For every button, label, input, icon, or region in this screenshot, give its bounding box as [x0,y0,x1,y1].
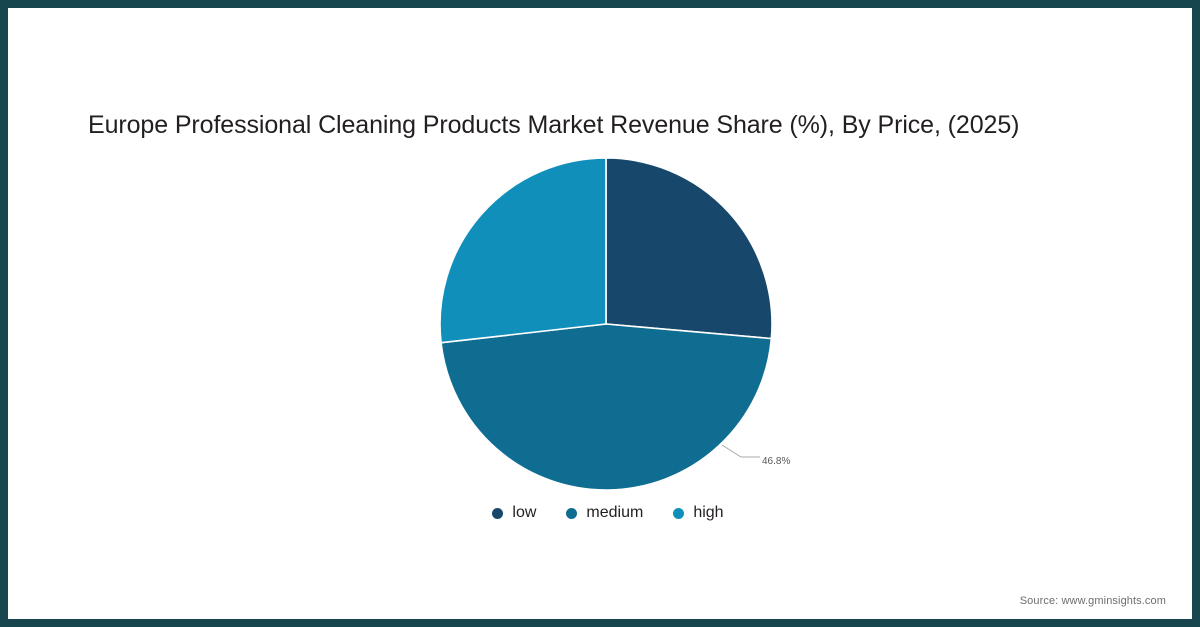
legend-label-high: high [693,504,723,522]
pie-slice-low[interactable] [606,158,772,339]
legend-label-medium: medium [586,504,643,522]
legend-item-medium[interactable]: medium [566,504,643,522]
pie-chart-svg: 46.8% [8,8,1200,627]
pie-slice-medium[interactable] [441,324,771,490]
legend-swatch-icon-medium [566,508,577,519]
legend-item-high[interactable]: high [673,504,723,522]
pie-slice-high[interactable] [440,158,606,343]
source-attribution: Source: www.gminsights.com [1020,595,1166,607]
data-label-leader-line [722,445,760,457]
chart-canvas: Europe Professional Cleaning Products Ma… [8,8,1192,619]
legend-item-low[interactable]: low [492,504,536,522]
chart-legend: low medium high [8,504,1200,522]
chart-page: Europe Professional Cleaning Products Ma… [0,0,1200,627]
legend-swatch-icon-high [673,508,684,519]
legend-swatch-icon-low [492,508,503,519]
data-label-medium: 46.8% [762,456,790,467]
pie-chart: 46.8% [8,8,1200,627]
legend-label-low: low [512,504,536,522]
